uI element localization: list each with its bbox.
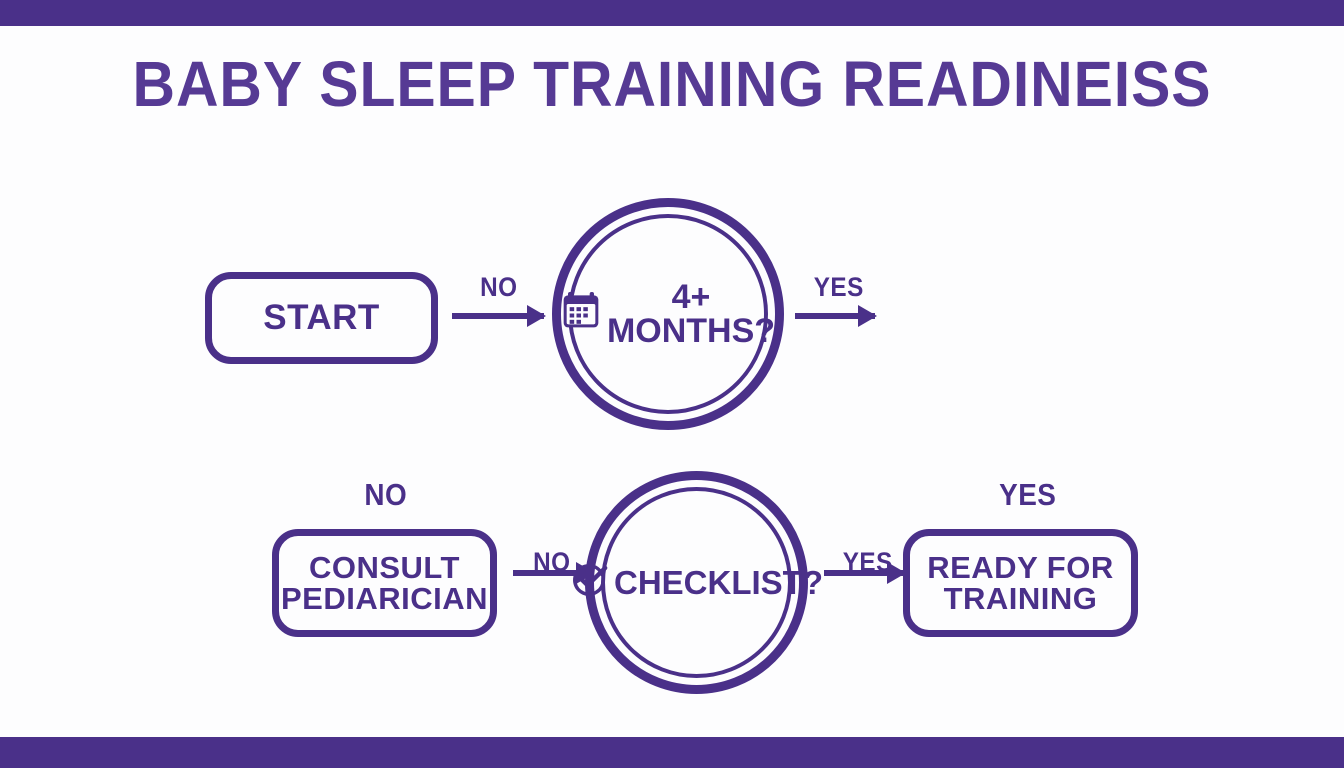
- node-months-label-line1: 4+: [672, 280, 711, 314]
- node-ready-label-line2: TRAINING: [944, 583, 1098, 614]
- node-start[interactable]: START: [205, 272, 438, 364]
- node-checklist-label: CHECKLIST?: [614, 564, 823, 602]
- calendar-icon: [561, 290, 601, 339]
- node-consult-label-line1: CONSULT: [309, 552, 460, 583]
- edge-label-ready-yes: YES: [999, 477, 1056, 513]
- node-months-label-line2: MONTHS?: [607, 314, 775, 348]
- node-ready-label: READY FOR TRAINING: [927, 552, 1114, 614]
- node-ready-for-training[interactable]: READY FOR TRAINING: [903, 529, 1138, 637]
- edge-label-checklist-to-ready: YES: [843, 547, 893, 578]
- node-checklist-decision[interactable]: CHECKLIST?: [585, 471, 808, 694]
- node-checklist-content: CHECKLIST?: [570, 560, 823, 606]
- check-circle-icon: [570, 560, 608, 606]
- arrow-start-to-months: [452, 313, 544, 319]
- node-months-label: 4+ MONTHS?: [607, 280, 775, 348]
- edge-label-start-to-months: NO: [480, 272, 517, 303]
- page-title: BABY SLEEP TRAINING READINEISS: [54, 52, 1290, 116]
- top-brand-bar: [0, 0, 1344, 26]
- edge-label-consult-to-checklist: NO: [533, 547, 570, 578]
- edge-label-months-yes: YES: [814, 272, 864, 303]
- node-ready-label-line1: READY FOR: [927, 552, 1114, 583]
- arrow-months-yes: [795, 313, 875, 319]
- node-consult-label: CONSULT PEDIARICIAN: [281, 552, 488, 614]
- flowchart-poster: BABY SLEEP TRAINING READINEISS START NO: [0, 0, 1344, 768]
- node-consult-pediarician[interactable]: CONSULT PEDIARICIAN: [272, 529, 497, 637]
- bottom-brand-bar: [0, 737, 1344, 768]
- node-consult-label-line2: PEDIARICIAN: [281, 583, 488, 614]
- edge-label-consult-no: NO: [364, 477, 407, 513]
- node-start-label: START: [263, 300, 380, 337]
- node-months-content: 4+ MONTHS?: [561, 280, 775, 348]
- node-months-decision[interactable]: 4+ MONTHS?: [552, 198, 784, 430]
